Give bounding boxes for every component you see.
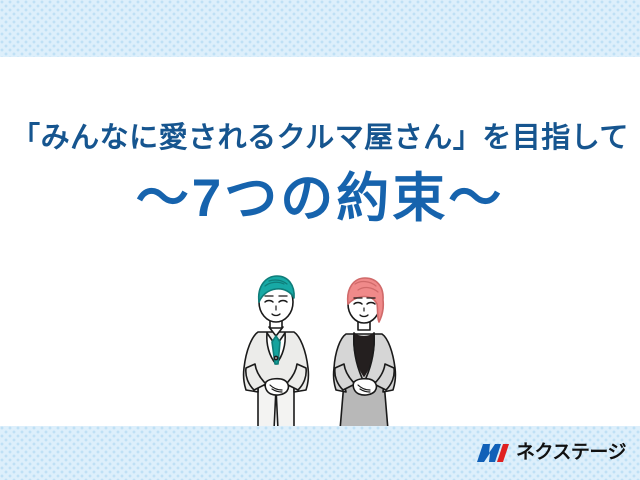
male-staff-figure [244, 276, 309, 430]
two-bowing-staff-illustration [236, 272, 416, 430]
slide-root: 「みんなに愛されるクルマ屋さん」を目指して 〜7つの約束〜 [0, 0, 640, 480]
top-dot-band [0, 0, 640, 57]
nextage-logo-text: ネクステージ [516, 441, 626, 465]
headline-line-2: 〜7つの約束〜 [0, 168, 640, 230]
nextage-n-mark [476, 441, 510, 465]
female-staff-figure [334, 278, 396, 430]
headline-block: 「みんなに愛されるクルマ屋さん」を目指して 〜7つの約束〜 [0, 118, 640, 230]
nextage-logo: ネクステージ [476, 440, 626, 466]
headline-line-1: 「みんなに愛されるクルマ屋さん」を目指して [0, 118, 640, 158]
